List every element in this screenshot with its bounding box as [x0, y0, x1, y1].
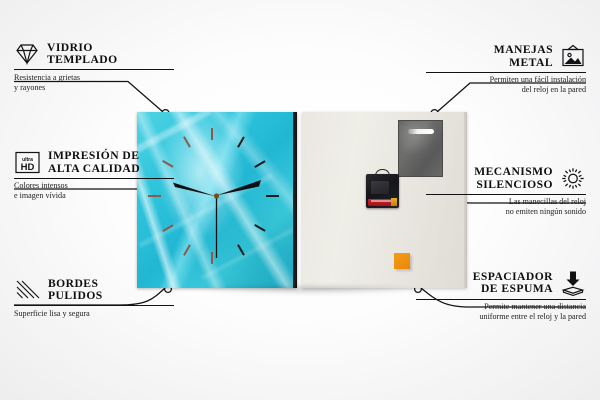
callout-title: IMPRESIÓN DE ALTA CALIDAD — [48, 150, 140, 175]
callout-title: ESPACIADOR DE ESPUMA — [473, 271, 553, 296]
callout-rule — [14, 178, 174, 179]
callout-bordes-pulidos: BORDES PULIDOS Superficie lisa y segura — [14, 278, 174, 319]
callout-subtitle: Resistencia a grietas y rayones — [14, 73, 174, 93]
callout-subtitle: Permite mantener una distancia uniforme … — [416, 302, 586, 322]
ultra-hd-icon: ultra HD — [14, 150, 41, 175]
battery — [368, 199, 392, 206]
clock-mechanism — [366, 174, 399, 208]
foam-spacer — [394, 253, 410, 269]
callout-title: MECANISMO SILENCIOSO — [474, 166, 553, 191]
picture-frame-hanger-icon — [560, 44, 586, 69]
battery-label — [371, 200, 391, 202]
callout-rule — [426, 194, 586, 195]
infographic-canvas: VIDRIO TEMPLADO Resistencia a grietas y … — [0, 0, 600, 400]
callout-title: MANEJAS METAL — [494, 44, 553, 69]
battery-terminal — [391, 198, 397, 206]
diamond-icon — [14, 42, 40, 66]
callout-mecanismo-silencioso: MECANISMO SILENCIOSO Las manecillas del … — [426, 166, 586, 217]
callout-subtitle: Permiten una fácil instalación del reloj… — [426, 75, 586, 95]
callout-header: BORDES PULIDOS — [14, 278, 174, 303]
gear-icon — [560, 166, 586, 191]
callout-subtitle: Las manecillas del reloj no emiten ningú… — [426, 197, 586, 217]
callout-rule — [14, 69, 174, 70]
callout-header: ESPACIADOR DE ESPUMA — [416, 270, 586, 296]
hanger-slot — [408, 129, 434, 134]
callout-espaciador-espuma: ESPACIADOR DE ESPUMA Permite mantener un… — [416, 270, 586, 322]
callout-rule — [14, 305, 174, 306]
callout-header: MECANISMO SILENCIOSO — [426, 166, 586, 191]
clock-minute-hand — [216, 180, 261, 196]
clock-hour-hand — [173, 183, 216, 197]
ultra-hd-large-label: HD — [21, 162, 35, 173]
product-image — [137, 110, 472, 290]
callout-header: VIDRIO TEMPLADO — [14, 42, 174, 67]
arrow-down-pad-icon — [560, 270, 586, 296]
callout-rule — [416, 299, 586, 300]
callout-subtitle: Superficie lisa y segura — [14, 309, 174, 319]
callout-title: BORDES PULIDOS — [48, 278, 103, 303]
callout-header: MANEJAS METAL — [426, 44, 586, 69]
callout-impresion: ultra HD IMPRESIÓN DE ALTA CALIDAD Color… — [14, 150, 174, 201]
callout-manejas-metal: MANEJAS METAL Permiten una fácil instala… — [426, 44, 586, 95]
callout-subtitle: Colores intensos e imagen vívida — [14, 181, 174, 201]
callout-title: VIDRIO TEMPLADO — [47, 42, 118, 67]
polished-edges-icon — [14, 279, 41, 301]
mechanism-body — [371, 181, 389, 194]
callout-vidrio-templado: VIDRIO TEMPLADO Resistencia a grietas y … — [14, 42, 174, 93]
callout-rule — [426, 72, 586, 73]
callout-header: ultra HD IMPRESIÓN DE ALTA CALIDAD — [14, 150, 174, 175]
clock-center-cap — [214, 193, 219, 198]
mechanism-hanger-loop — [375, 169, 390, 176]
